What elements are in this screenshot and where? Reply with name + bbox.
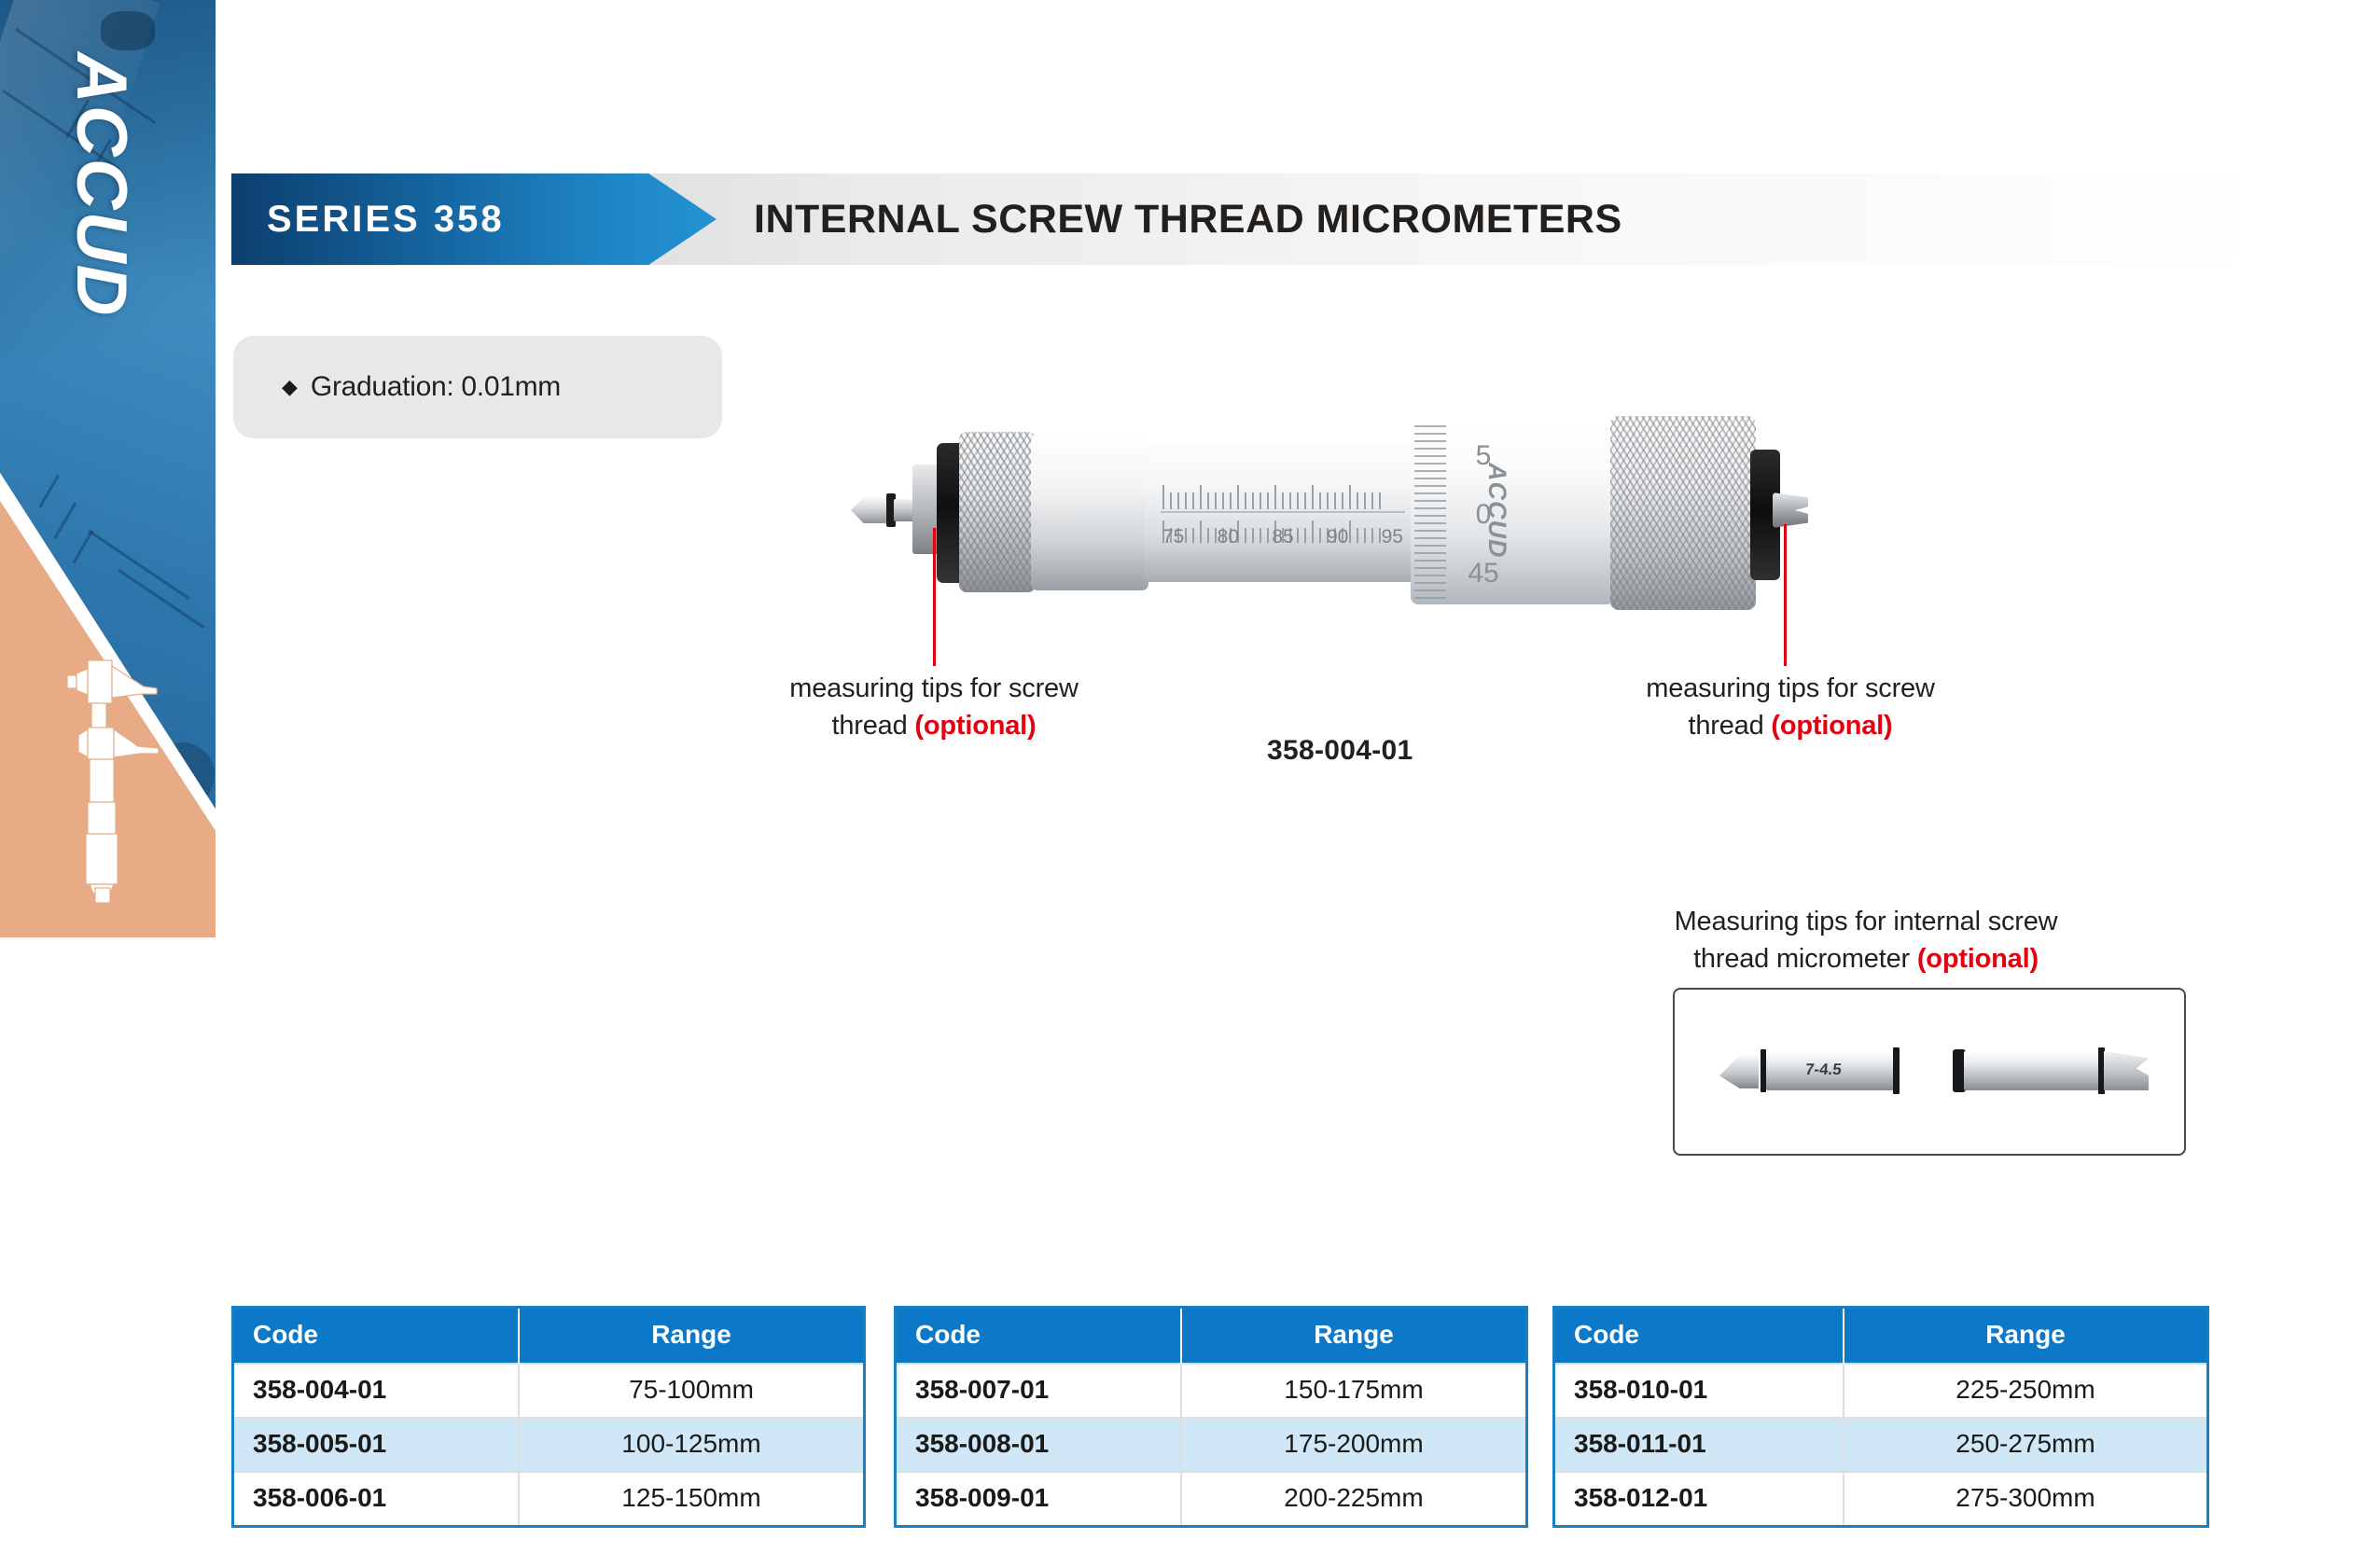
tips-caption-line2: thread micrometer (optional) [1605, 940, 2127, 978]
graduation-spec-text: Graduation: 0.01mm [311, 371, 561, 403]
callout-left-line2-plain: thread [832, 711, 915, 741]
scale-number: 95 [1382, 526, 1403, 548]
tip-point [1719, 1055, 1759, 1088]
ruler-etch [72, 531, 93, 564]
table-row[interactable]: 358-006-01 125-150mm [234, 1472, 863, 1525]
tips-caption-line1: Measuring tips for internal screw [1605, 903, 2127, 940]
cell-code: 358-009-01 [897, 1472, 1181, 1525]
cell-range: 75-100mm [519, 1364, 863, 1418]
ruler-etch [88, 530, 189, 600]
table-header-row: Code Range [1555, 1309, 2206, 1364]
table-header-row: Code Range [897, 1309, 1525, 1364]
measuring-tips-image-box: 7-4.5 [1673, 988, 2186, 1156]
callout-right-line1: measuring tips for screw [1627, 670, 1954, 707]
cell-code: 358-011-01 [1555, 1418, 1844, 1472]
leader-line-right [1784, 524, 1787, 666]
measuring-tip-right [1773, 489, 1816, 532]
column-header-code: Code [1555, 1309, 1844, 1364]
table-row[interactable]: 358-011-01 250-275mm [1555, 1418, 2206, 1472]
callout-right: measuring tips for screw thread (optiona… [1627, 670, 1954, 744]
product-brand-mark: ACCUD [1482, 463, 1511, 559]
cell-range: 225-250mm [1844, 1364, 2206, 1418]
cell-code: 358-012-01 [1555, 1472, 1844, 1525]
tip-ring [2098, 1047, 2105, 1094]
table-row[interactable]: 358-008-01 175-200mm [897, 1418, 1525, 1472]
table-row[interactable]: 358-007-01 150-175mm [897, 1364, 1525, 1418]
scale-number: 80 [1218, 526, 1239, 548]
barrel-datum-line [1161, 511, 1405, 513]
callout-left-optional: (optional) [914, 711, 1036, 741]
column-header-range: Range [519, 1309, 863, 1364]
tip-cone [851, 497, 888, 523]
ruler-etch [53, 503, 77, 540]
table-row[interactable]: 358-005-01 100-125mm [234, 1418, 863, 1472]
knurled-thimble-cap [1610, 416, 1756, 610]
cell-range: 150-175mm [1181, 1364, 1525, 1418]
ruler-etch [38, 475, 60, 508]
sleeve-left [1031, 434, 1148, 590]
callout-right-line2: thread (optional) [1627, 707, 1954, 744]
tip-ring-rear [1893, 1047, 1900, 1094]
cell-range: 275-300mm [1844, 1472, 2206, 1525]
callout-left-line1: measuring tips for screw [771, 670, 1097, 707]
table-row[interactable]: 358-004-01 75-100mm [234, 1364, 863, 1418]
thimble: 5 0 45 ACCUD [1411, 422, 1614, 604]
caliper-icon [54, 653, 166, 905]
product-image-micrometer: 75 80 85 90 95 5 0 45 ACCUD [840, 401, 1959, 681]
callout-left-line2: thread (optional) [771, 707, 1097, 744]
cell-range: 125-150mm [519, 1472, 863, 1525]
page-title: INTERNAL SCREW THREAD MICROMETERS [754, 173, 1622, 265]
table-row[interactable]: 358-012-01 275-300mm [1555, 1472, 2206, 1525]
cell-code: 358-006-01 [234, 1472, 519, 1525]
cell-code: 358-008-01 [897, 1418, 1181, 1472]
code-range-table-3: Code Range 358-010-01 225-250mm 358-011-… [1552, 1306, 2209, 1528]
cell-range: 250-275mm [1844, 1418, 2206, 1472]
tip-body [1964, 1051, 2104, 1090]
callout-left: measuring tips for screw thread (optiona… [771, 670, 1097, 744]
knurled-ring-left [959, 432, 1036, 592]
tip-engraving: 7-4.5 [1804, 1061, 1843, 1079]
thimble-number: 45 [1468, 558, 1498, 589]
tips-caption-optional: (optional) [1917, 944, 2039, 974]
main-scale-barrel: 75 80 85 90 95 [1144, 444, 1420, 582]
scale-number: 75 [1162, 526, 1184, 548]
sidebar-brand-logo: ACCUD [61, 52, 142, 268]
tip-vee-head [1773, 492, 1808, 528]
column-header-range: Range [1844, 1309, 2206, 1364]
cell-code: 358-010-01 [1555, 1364, 1844, 1418]
specification-box: ◆ Graduation: 0.01mm [233, 336, 722, 438]
series-badge: SERIES 358 [231, 173, 717, 265]
tips-caption: Measuring tips for internal screw thread… [1605, 903, 2127, 978]
cell-code: 358-004-01 [234, 1364, 519, 1418]
barrel-ticks-upper [1162, 470, 1381, 509]
scale-number: 85 [1272, 526, 1293, 548]
column-header-code: Code [234, 1309, 519, 1364]
photo-shadow [101, 11, 155, 50]
barrel-scale-numbers: 75 80 85 90 95 [1162, 526, 1403, 548]
cell-range: 175-200mm [1181, 1418, 1525, 1472]
table-row[interactable]: 358-009-01 200-225mm [897, 1472, 1525, 1525]
cell-range: 100-125mm [519, 1418, 863, 1472]
product-model-number: 358-004-01 [1267, 735, 1413, 767]
sidebar-brand-panel: ACCUD [0, 0, 216, 937]
diamond-bullet-icon: ◆ [282, 377, 298, 397]
measuring-tip-left [851, 490, 914, 529]
column-header-code: Code [897, 1309, 1181, 1364]
callout-right-optional: (optional) [1771, 711, 1892, 741]
tip-vee-notch [2104, 1051, 2149, 1090]
leader-line-left [933, 528, 936, 666]
measuring-tip-conical: 7-4.5 [1719, 1044, 1915, 1098]
cell-code: 358-005-01 [234, 1418, 519, 1472]
code-range-table-2: Code Range 358-007-01 150-175mm 358-008-… [894, 1306, 1528, 1528]
scale-number: 90 [1327, 526, 1348, 548]
code-range-table-1: Code Range 358-004-01 75-100mm 358-005-0… [231, 1306, 866, 1528]
callout-right-line2-plain: thread [1689, 711, 1772, 741]
measuring-tip-vee [1953, 1044, 2150, 1098]
thimble-ticks [1414, 425, 1446, 601]
page-header: SERIES 358 INTERNAL SCREW THREAD MICROME… [231, 173, 2265, 265]
table-row[interactable]: 358-010-01 225-250mm [1555, 1364, 2206, 1418]
column-header-range: Range [1181, 1309, 1525, 1364]
cell-code: 358-007-01 [897, 1364, 1181, 1418]
table-header-row: Code Range [234, 1309, 863, 1364]
tips-caption-line2-plain: thread micrometer [1693, 944, 1917, 974]
series-badge-label: SERIES 358 [267, 199, 505, 241]
cell-range: 200-225mm [1181, 1472, 1525, 1525]
